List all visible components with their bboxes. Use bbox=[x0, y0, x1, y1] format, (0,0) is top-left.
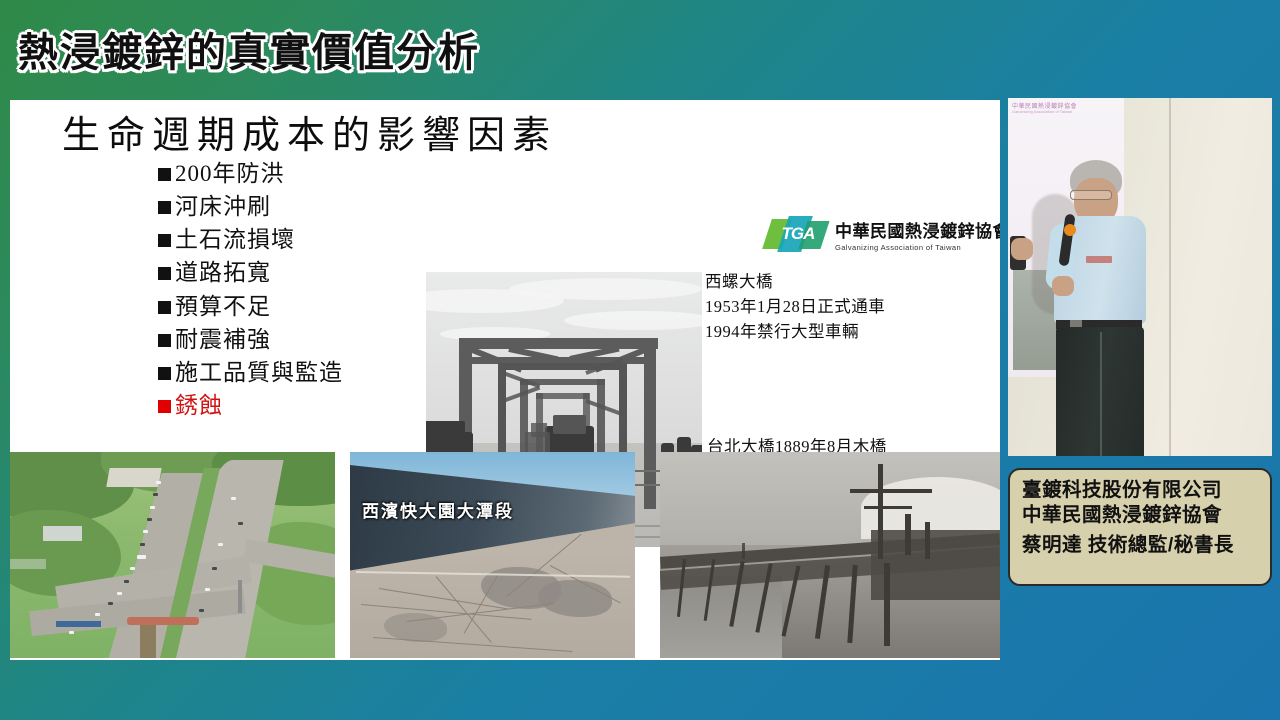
photo-caption: 西濱快大園大潭段 bbox=[362, 497, 514, 522]
list-item-label: 道路拓寬 bbox=[175, 261, 271, 285]
bullet-marker-icon bbox=[158, 201, 171, 214]
tga-wordmark: 中華民國熱浸鍍鋅協會 Galvanizing Association of Ta… bbox=[835, 217, 1000, 252]
list-item-label: 銹蝕 bbox=[175, 394, 223, 418]
bullet-marker-icon bbox=[158, 301, 171, 314]
note-xiluo-bridge: 西螺大橋 1953年1月28日正式通車 1994年禁行大型車輛 bbox=[705, 270, 885, 344]
credit-company: 臺鍍科技股份有限公司 bbox=[1022, 478, 1264, 503]
credit-association: 中華民國熱浸鍍鋅協會 bbox=[1022, 503, 1264, 528]
speaker-credit-box: 臺鍍科技股份有限公司 中華民國熱浸鍍鋅協會 蔡明達 技術總監/秘書長 bbox=[1008, 468, 1272, 586]
photo-aerial-highway bbox=[10, 452, 335, 658]
bullet-marker-icon bbox=[158, 234, 171, 247]
list-item-label: 耐震補強 bbox=[175, 328, 271, 352]
header-bar: 熱浸鍍鋅的真實價值分析 bbox=[0, 0, 1280, 96]
bullet-marker-icon bbox=[158, 367, 171, 380]
slide-heading: 生命週期成本的影響因素 bbox=[62, 104, 557, 159]
photo-cracked-road: 西濱快大園大潭段 bbox=[350, 452, 635, 658]
slide-panel: 生命週期成本的影響因素 200年防洪 河床沖刷 土石流損壞 道路拓寬 預算不足 … bbox=[10, 100, 1000, 660]
note-line: 西螺大橋 bbox=[705, 270, 885, 295]
list-item-label: 預算不足 bbox=[175, 295, 271, 319]
credit-person: 蔡明達 技術總監/秘書長 bbox=[1022, 533, 1264, 558]
list-item: 施工品質與監造 bbox=[158, 361, 428, 385]
photo-old-wooden-bridge bbox=[660, 452, 1000, 658]
list-item-label: 施工品質與監造 bbox=[175, 361, 343, 385]
bullet-marker-icon bbox=[158, 168, 171, 181]
list-item: 200年防洪 bbox=[158, 162, 428, 186]
note-line: 1994年禁行大型車輛 bbox=[705, 320, 885, 345]
list-item-label: 土石流損壞 bbox=[175, 228, 295, 252]
tga-mark-icon: TGA bbox=[767, 215, 829, 253]
presenter-video[interactable]: 中華民國熱浸鍍鋅協會 Galvanizing Association of Ta… bbox=[1008, 98, 1272, 456]
note-line: 1953年1月28日正式通車 bbox=[705, 295, 885, 320]
tga-name-en: Galvanizing Association of Taiwan bbox=[835, 243, 1000, 252]
list-item-label: 河床沖刷 bbox=[175, 195, 271, 219]
list-item: 道路拓寬 bbox=[158, 261, 428, 285]
list-item: 預算不足 bbox=[158, 295, 428, 319]
page-title: 熱浸鍍鋅的真實價值分析 bbox=[18, 20, 480, 78]
tga-abbr: TGA bbox=[769, 224, 827, 244]
list-item-label: 200年防洪 bbox=[175, 162, 285, 186]
bullet-list: 200年防洪 河床沖刷 土石流損壞 道路拓寬 預算不足 耐震補強 施工品質與監造… bbox=[158, 162, 428, 427]
bullet-marker-icon bbox=[158, 400, 171, 413]
list-item-highlighted: 銹蝕 bbox=[158, 394, 428, 418]
bullet-marker-icon bbox=[158, 267, 171, 280]
tga-name-cn: 中華民國熱浸鍍鋅協會 bbox=[835, 217, 1000, 242]
video-watermark-en: Galvanizing Association of Taiwan bbox=[1012, 109, 1072, 114]
glasses-icon bbox=[1070, 190, 1112, 200]
list-item: 河床沖刷 bbox=[158, 195, 428, 219]
photo-row: 西濱快大園大潭段 bbox=[10, 452, 1000, 660]
bullet-marker-icon bbox=[158, 334, 171, 347]
slide-stage: 熱浸鍍鋅的真實價值分析 生命週期成本的影響因素 200年防洪 河床沖刷 土石流損… bbox=[0, 0, 1280, 720]
list-item: 耐震補強 bbox=[158, 328, 428, 352]
tga-logo: TGA 中華民國熱浸鍍鋅協會 Galvanizing Association o… bbox=[767, 212, 1000, 256]
list-item: 土石流損壞 bbox=[158, 228, 428, 252]
